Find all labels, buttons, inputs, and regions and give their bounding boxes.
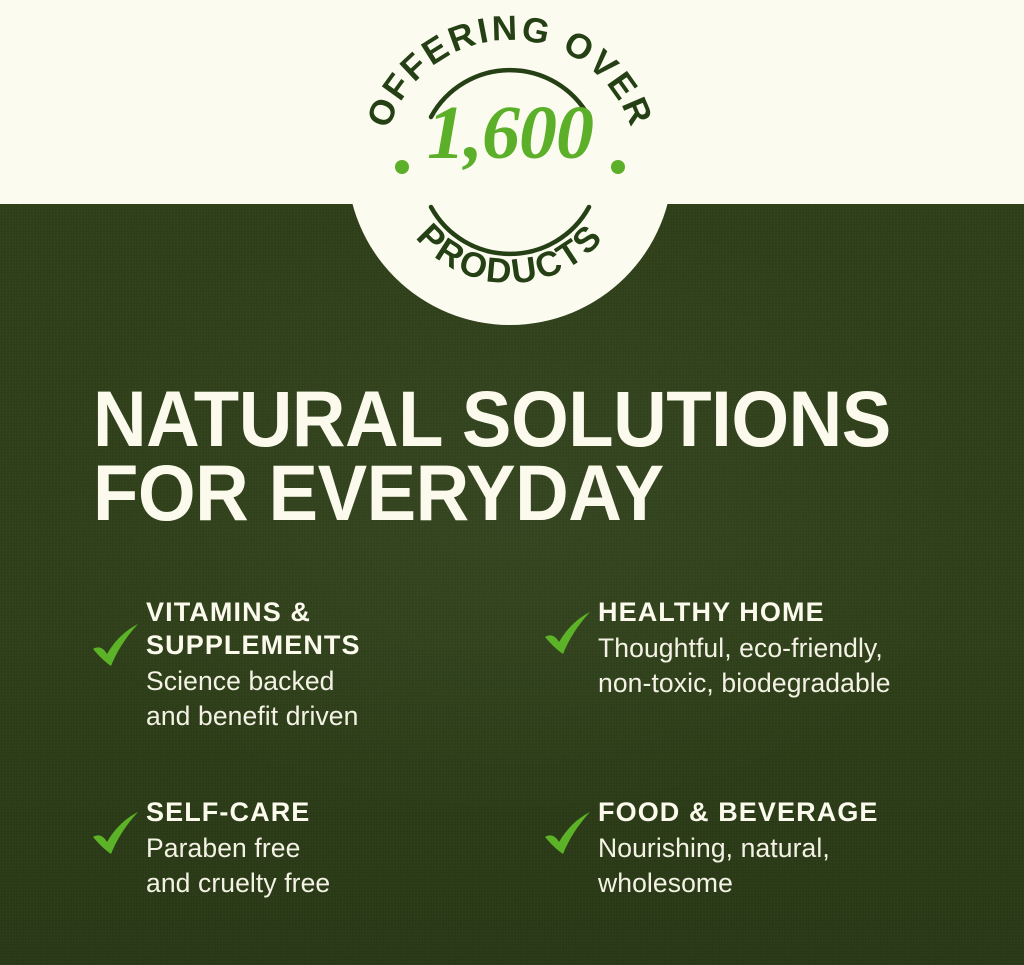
- feature-description: Paraben free and cruelty free: [146, 831, 540, 901]
- feature-desc-line-2: and benefit driven: [146, 699, 540, 734]
- check-icon: [88, 618, 146, 676]
- feature-body: SELF-CARE Paraben free and cruelty free: [146, 788, 540, 901]
- feature-item-food-beverage: FOOD & BEVERAGE Nourishing, natural, who…: [540, 788, 1004, 901]
- headline-line-1: NATURAL SOLUTIONS: [93, 382, 920, 456]
- feature-item-vitamins-supplements: VITAMINS & SUPPLEMENTS Science backed an…: [88, 588, 540, 788]
- check-icon: [540, 606, 598, 664]
- feature-desc-line-2: wholesome: [598, 866, 1004, 901]
- feature-list: VITAMINS & SUPPLEMENTS Science backed an…: [88, 588, 1004, 901]
- badge-product-count: 1,600: [347, 95, 673, 171]
- headline-line-2: FOR EVERYDAY: [93, 456, 920, 530]
- feature-desc-line-1: Paraben free: [146, 831, 540, 866]
- page-title: NATURAL SOLUTIONS FOR EVERYDAY: [93, 382, 920, 530]
- feature-body: FOOD & BEVERAGE Nourishing, natural, who…: [598, 788, 1004, 901]
- feature-title-line-2: SUPPLEMENTS: [146, 630, 361, 660]
- feature-desc-line-1: Science backed: [146, 664, 540, 699]
- feature-desc-line-2: and cruelty free: [146, 866, 540, 901]
- feature-desc-line-2: non-toxic, biodegradable: [598, 666, 1004, 701]
- feature-description: Thoughtful, eco-friendly, non-toxic, bio…: [598, 631, 1004, 701]
- feature-item-self-care: SELF-CARE Paraben free and cruelty free: [88, 788, 540, 901]
- feature-body: VITAMINS & SUPPLEMENTS Science backed an…: [146, 588, 540, 734]
- feature-body: HEALTHY HOME Thoughtful, eco-friendly, n…: [598, 588, 1004, 701]
- feature-desc-line-1: Nourishing, natural,: [598, 831, 1004, 866]
- offering-badge: OFFERING OVER PRODUCTS 1,600: [347, 0, 673, 325]
- feature-title: VITAMINS & SUPPLEMENTS: [146, 596, 540, 662]
- feature-title: HEALTHY HOME: [598, 596, 1004, 629]
- promo-poster: OFFERING OVER PRODUCTS 1,600 NATURAL SOL…: [0, 0, 1024, 965]
- feature-desc-line-1: Thoughtful, eco-friendly,: [598, 631, 1004, 666]
- feature-title-line-1: VITAMINS &: [146, 597, 311, 627]
- check-icon: [540, 806, 598, 864]
- feature-title: SELF-CARE: [146, 796, 540, 829]
- feature-description: Nourishing, natural, wholesome: [598, 831, 1004, 901]
- feature-description: Science backed and benefit driven: [146, 664, 540, 734]
- check-icon: [88, 806, 146, 864]
- feature-title: FOOD & BEVERAGE: [598, 796, 1004, 829]
- feature-item-healthy-home: HEALTHY HOME Thoughtful, eco-friendly, n…: [540, 588, 1004, 788]
